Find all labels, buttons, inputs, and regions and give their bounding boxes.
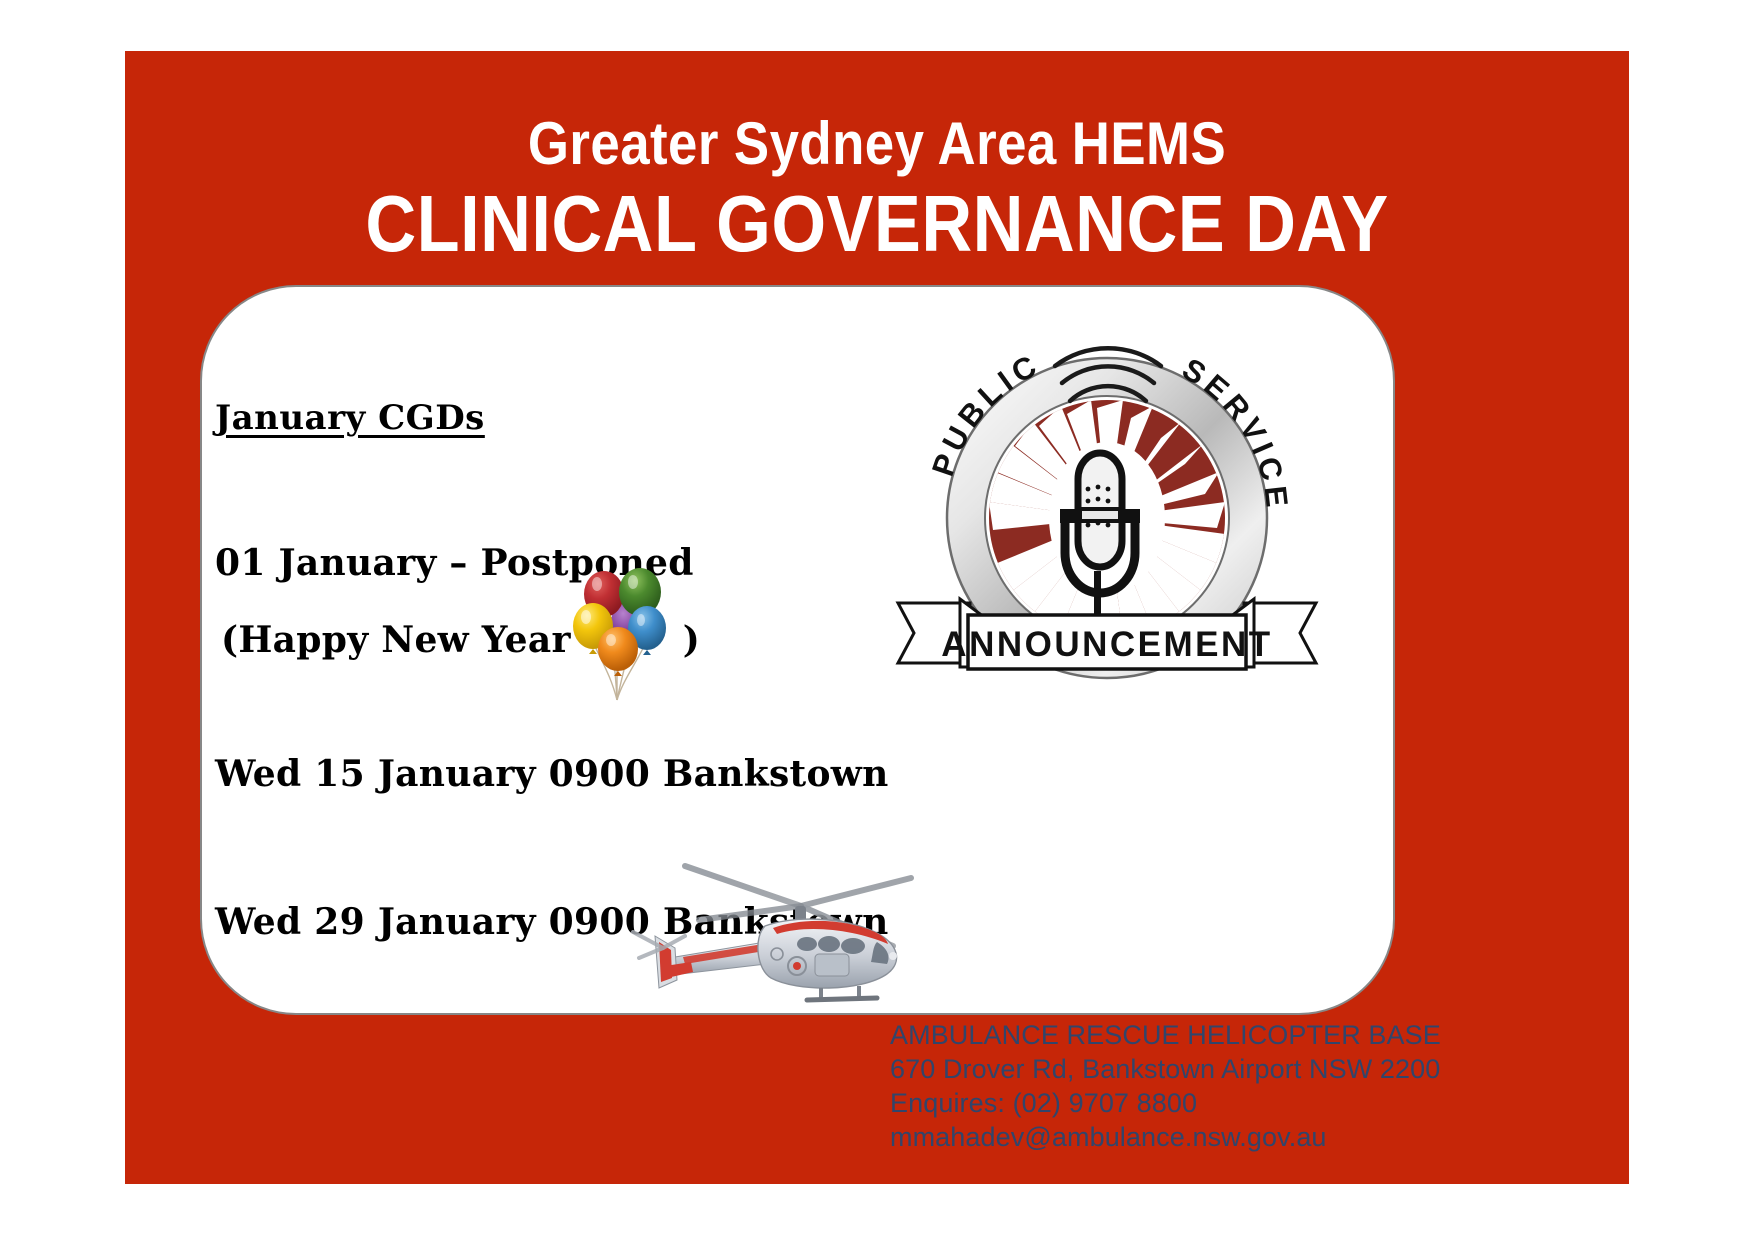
contact-line-base-name: AMBULANCE RESCUE HELICOPTER BASE [890,1018,1441,1052]
contact-line-email[interactable]: mmahadev@ambulance.nsw.gov.au [890,1120,1441,1154]
contact-line-address: 670 Drover Rd, Bankstown Airport NSW 220… [890,1052,1441,1086]
list-item-happy-new-year: (Happy New Year [215,612,915,661]
list-item-jan-15: Wed 15 January 0900 Bankstown [215,753,915,795]
helicopter-image [625,862,915,1012]
balloons-icon [571,612,683,652]
agenda-heading: January CGDs [215,398,485,438]
poster-page: Greater Sydney Area HEMS CLINICAL GOVERN… [0,0,1754,1239]
public-service-announcement-badge: PUBLIC SERVICE ANNOUNCEMENT [872,303,1342,693]
happy-new-year-text-before: (Happy New Year [221,619,571,661]
contact-block: AMBULANCE RESCUE HELICOPTER BASE 670 Dro… [890,1018,1441,1154]
list-item-jan-01: 01 January – Postponed [215,542,915,584]
badge-ribbon-text: ANNOUNCEMENT [941,625,1272,664]
agenda-heading-wrap: January CGDs [215,398,915,438]
happy-new-year-text-after: ) [683,619,700,661]
contact-line-phone: Enquires: (02) 9707 8800 [890,1086,1441,1120]
